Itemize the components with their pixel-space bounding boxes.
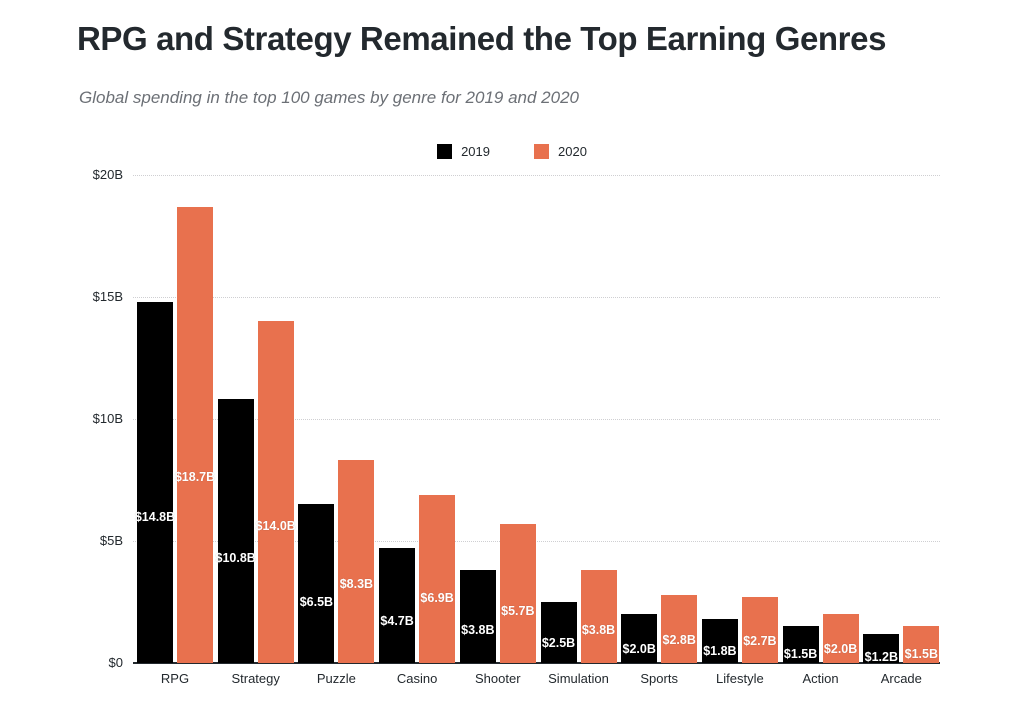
- bar-lifestyle-2019[interactable]: $1.8B: [702, 619, 738, 663]
- bar-value-label: $8.3B: [340, 578, 373, 591]
- y-axis-tick-label: $10B: [61, 412, 123, 425]
- bar-group: $6.5B$8.3BPuzzle: [294, 175, 378, 663]
- x-axis-tick-label: Sports: [617, 671, 701, 687]
- x-axis-tick-label: Action: [779, 671, 863, 687]
- bar-value-label: $2.0B: [824, 643, 857, 656]
- legend-label: 2019: [461, 144, 490, 159]
- bar-action-2020[interactable]: $2.0B: [823, 614, 859, 663]
- bar-group: $4.7B$6.9BCasino: [375, 175, 459, 663]
- bar-value-label: $18.7B: [175, 471, 215, 484]
- bar-sports-2019[interactable]: $2.0B: [621, 614, 657, 663]
- bar-group: $3.8B$5.7BShooter: [456, 175, 540, 663]
- bar-value-label: $14.8B: [135, 511, 175, 524]
- legend-item-2020[interactable]: 2020: [534, 144, 587, 159]
- bar-value-label: $3.8B: [461, 624, 494, 637]
- bar-value-label: $3.8B: [582, 624, 615, 637]
- bar-casino-2020[interactable]: $6.9B: [419, 495, 455, 663]
- bar-groups: $14.8B$18.7BRPG$10.8B$14.0BStrategy$6.5B…: [133, 175, 940, 663]
- y-axis-tick-label: $5B: [61, 534, 123, 547]
- bar-value-label: $5.7B: [501, 605, 534, 618]
- x-axis-tick-label: Puzzle: [294, 671, 378, 687]
- bar-value-label: $6.5B: [300, 596, 333, 609]
- x-axis-tick-label: Lifestyle: [698, 671, 782, 687]
- legend-label: 2020: [558, 144, 587, 159]
- bar-strategy-2019[interactable]: $10.8B: [218, 399, 254, 663]
- x-axis-tick-label: Shooter: [456, 671, 540, 687]
- bar-group: $14.8B$18.7BRPG: [133, 175, 217, 663]
- bar-strategy-2020[interactable]: $14.0B: [258, 321, 294, 663]
- bar-rpg-2020[interactable]: $18.7B: [177, 207, 213, 663]
- bar-value-label: $4.7B: [380, 615, 413, 628]
- bar-puzzle-2020[interactable]: $8.3B: [338, 460, 374, 663]
- bar-simulation-2020[interactable]: $3.8B: [581, 570, 617, 663]
- x-axis-tick-label: Casino: [375, 671, 459, 687]
- bar-value-label: $1.8B: [703, 645, 736, 658]
- x-axis-tick-label: Simulation: [537, 671, 621, 687]
- bar-group: $2.5B$3.8BSimulation: [537, 175, 621, 663]
- bar-value-label: $10.8B: [216, 552, 256, 565]
- x-axis-tick-label: RPG: [133, 671, 217, 687]
- y-axis-tick-label: $20B: [61, 168, 123, 181]
- bar-arcade-2020[interactable]: $1.5B: [903, 626, 939, 663]
- chart-legend: 20192020: [0, 144, 1024, 159]
- square-swatch: [437, 144, 452, 159]
- bar-value-label: $6.9B: [420, 592, 453, 605]
- bar-value-label: $2.5B: [542, 637, 575, 650]
- square-swatch: [534, 144, 549, 159]
- bar-group: $10.8B$14.0BStrategy: [214, 175, 298, 663]
- x-axis-tick-label: Arcade: [859, 671, 943, 687]
- bar-action-2019[interactable]: $1.5B: [783, 626, 819, 663]
- y-axis-tick-label: $15B: [61, 290, 123, 303]
- bar-group: $2.0B$2.8BSports: [617, 175, 701, 663]
- x-axis-tick-label: Strategy: [214, 671, 298, 687]
- bar-simulation-2019[interactable]: $2.5B: [541, 602, 577, 663]
- bar-casino-2019[interactable]: $4.7B: [379, 548, 415, 663]
- bar-value-label: $1.5B: [784, 648, 817, 661]
- y-axis-tick-label: $0: [61, 656, 123, 669]
- bar-arcade-2019[interactable]: $1.2B: [863, 634, 899, 663]
- bar-shooter-2020[interactable]: $5.7B: [500, 524, 536, 663]
- plot-area: $0$5B$10B$15B$20B $14.8B$18.7BRPG$10.8B$…: [133, 175, 940, 663]
- chart-subtitle: Global spending in the top 100 games by …: [79, 86, 979, 110]
- bar-group: $1.5B$2.0BAction: [779, 175, 863, 663]
- bar-value-label: $14.0B: [256, 520, 296, 533]
- bar-value-label: $1.5B: [905, 648, 938, 661]
- bar-value-label: $2.7B: [743, 635, 776, 648]
- bar-value-label: $1.2B: [865, 651, 898, 664]
- bar-group: $1.2B$1.5BArcade: [859, 175, 943, 663]
- bar-value-label: $2.0B: [623, 643, 656, 656]
- chart-card: RPG and Strategy Remained the Top Earnin…: [0, 0, 1024, 710]
- bar-value-label: $2.8B: [663, 634, 696, 647]
- bar-sports-2020[interactable]: $2.8B: [661, 595, 697, 663]
- bar-lifestyle-2020[interactable]: $2.7B: [742, 597, 778, 663]
- bar-puzzle-2019[interactable]: $6.5B: [298, 504, 334, 663]
- bar-shooter-2019[interactable]: $3.8B: [460, 570, 496, 663]
- legend-item-2019[interactable]: 2019: [437, 144, 490, 159]
- bar-group: $1.8B$2.7BLifestyle: [698, 175, 782, 663]
- bar-rpg-2019[interactable]: $14.8B: [137, 302, 173, 663]
- chart-title: RPG and Strategy Remained the Top Earnin…: [77, 18, 977, 60]
